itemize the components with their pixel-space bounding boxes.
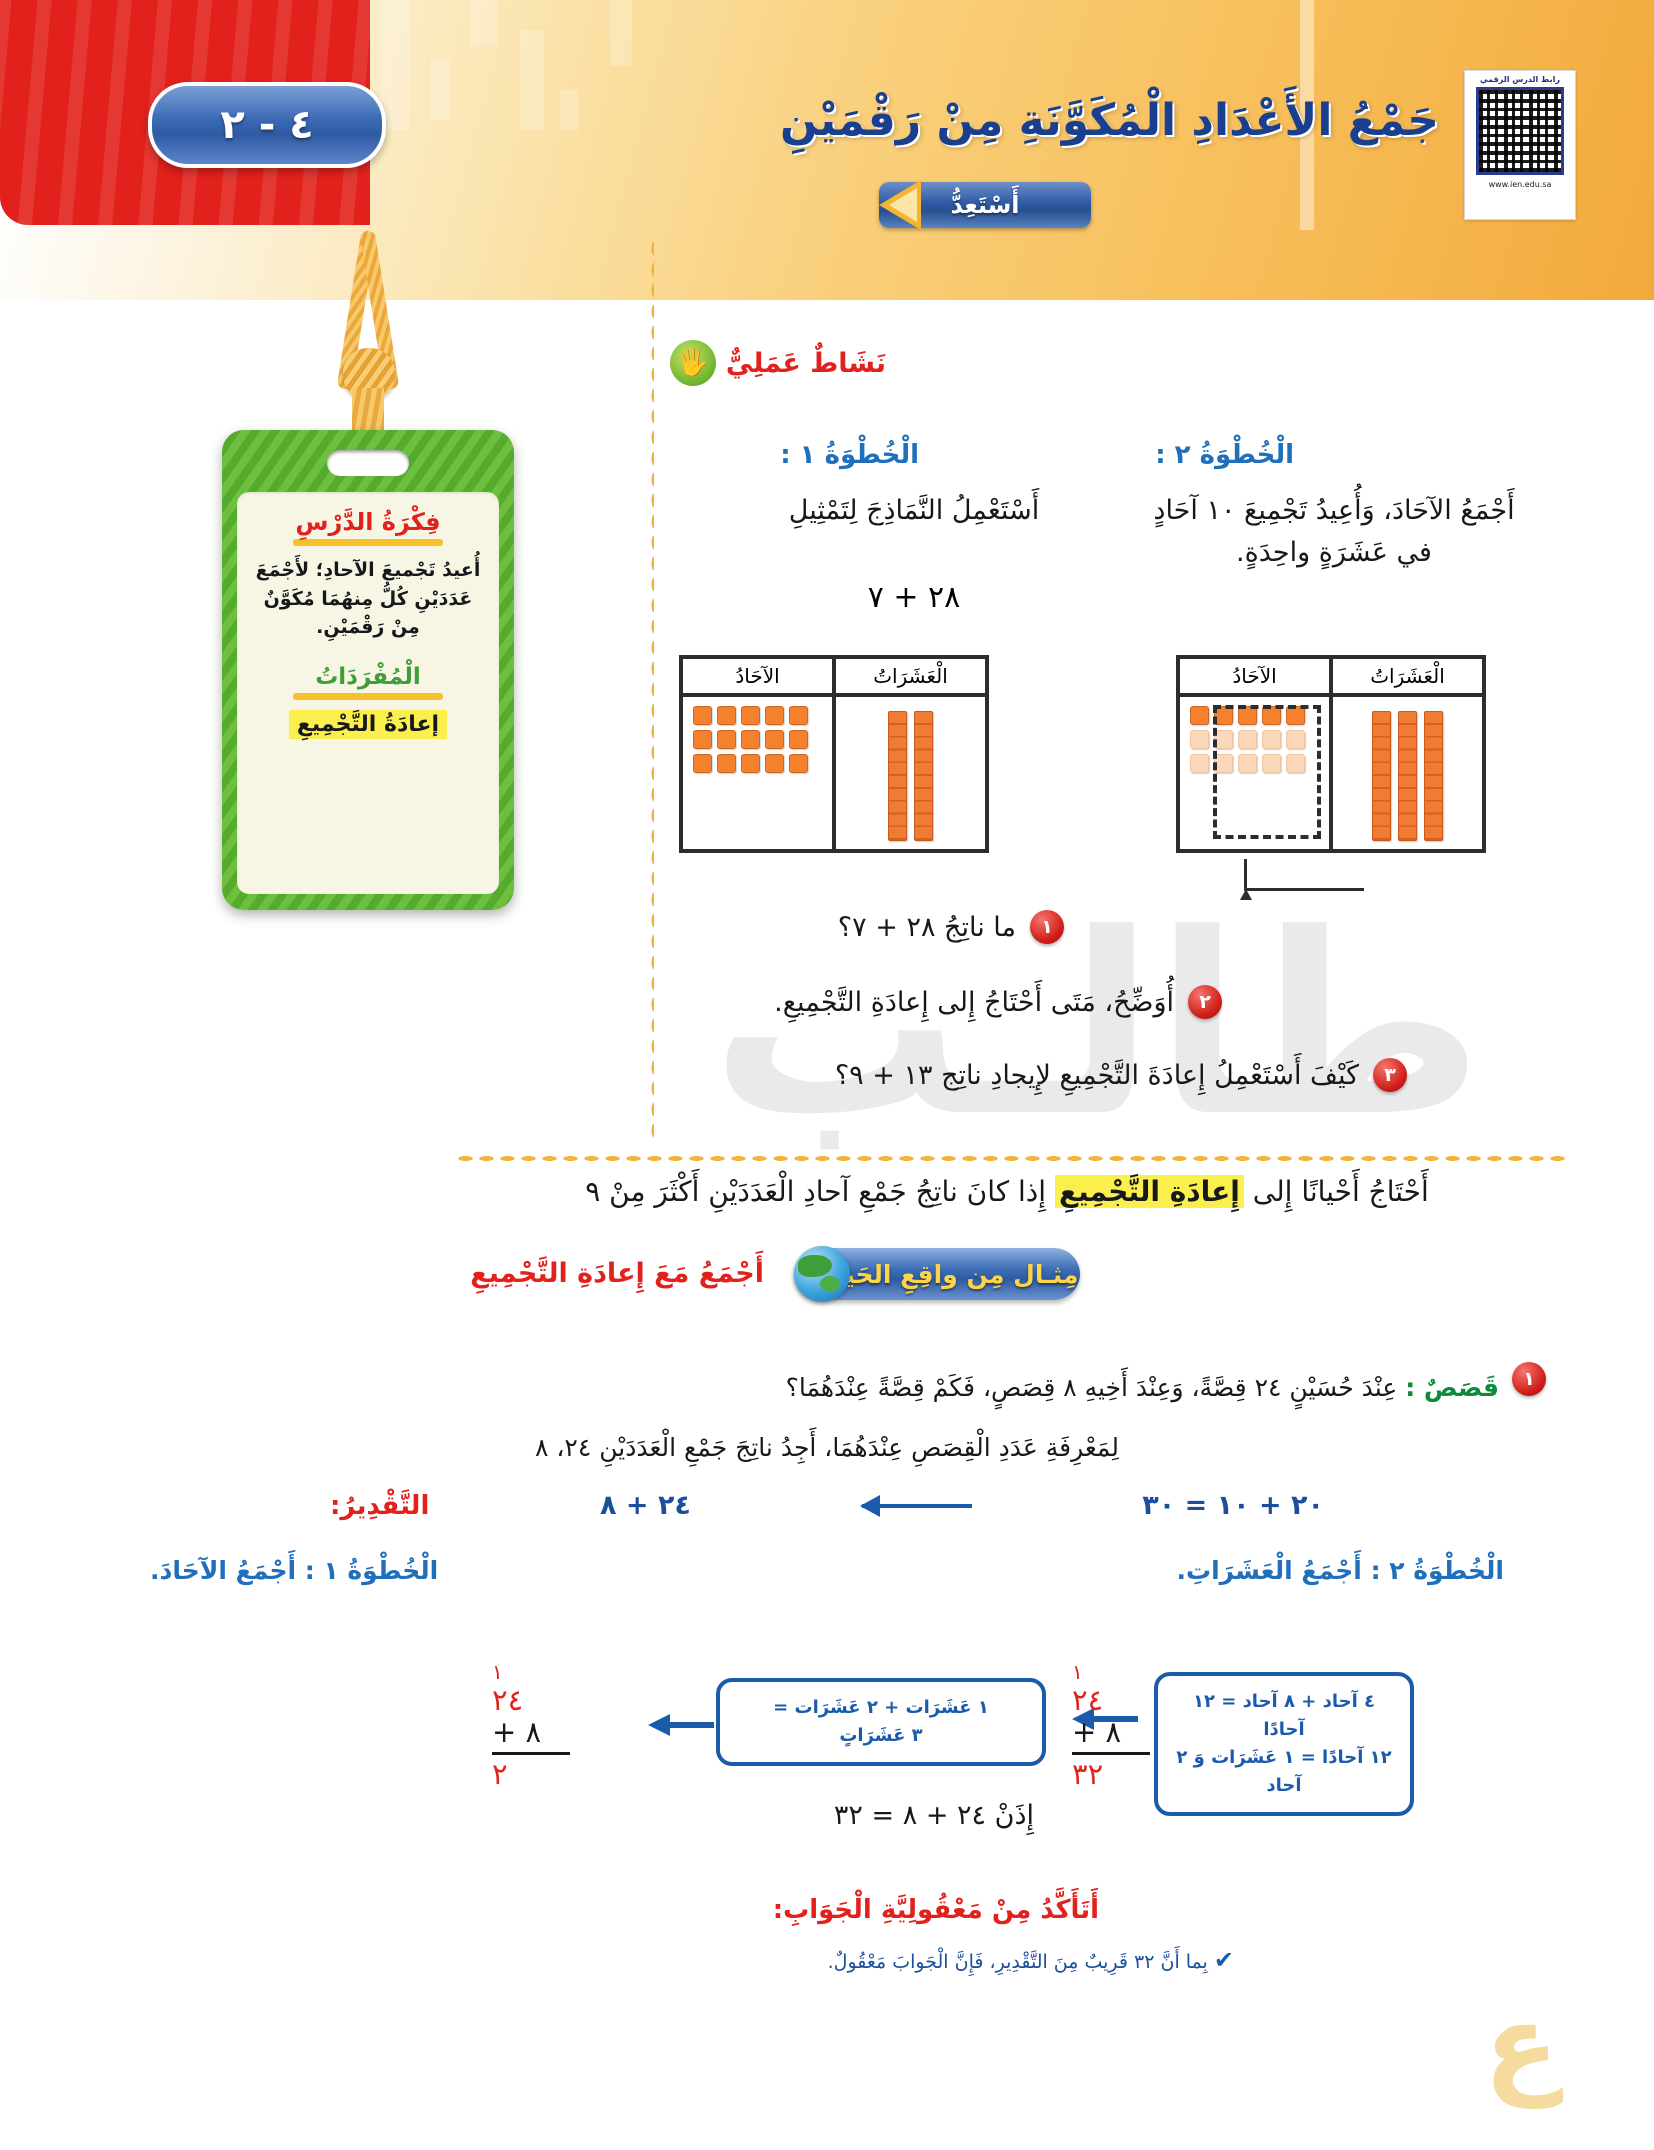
example-subtitle: أَجْمَعُ مَعَ إِعادَةِ التَّجْمِيعِ — [470, 1258, 764, 1289]
col-header-ones: الآحَادُ — [683, 659, 832, 693]
example-banner: مِثـال مِن واقِعِ الحَيـــاةِ — [794, 1248, 1124, 1300]
unit-cube-pale — [1190, 730, 1209, 749]
example-question-text: عِنْدَ حُسَيْنٍ ٢٤ قِصَّةً، وَعِنْدَ أَخ… — [786, 1373, 1398, 1402]
col-header-tens: الْعَشَرَاتُ — [832, 659, 985, 693]
question-number: ٣ — [1373, 1058, 1407, 1092]
unit-cube — [741, 730, 760, 749]
place-value-table-step2: الْعَشَرَاتُ الآحَادُ — [1176, 655, 1486, 853]
lesson-idea-card: فِكْرَةُ الدَّرْسِ أُعيدُ تَجْميعَ الآحا… — [222, 430, 514, 910]
callout-ones-line-2: ١٢ آحادًا = ١ عَشَرَات وَ ٢ آحاد — [1172, 1744, 1396, 1800]
estimate-result: ٢٠ + ١٠ = ٣٠ — [1142, 1490, 1324, 1521]
textbook-page: ٤ - ٢ رابط الدرس الرقمي www.ien.edu.sa ج… — [0, 0, 1654, 2150]
page-title: جَمْعُ الأَعْدَادِ الْمُكَوَّنَةِ مِنْ ر… — [780, 95, 1439, 146]
tens-rod — [888, 711, 907, 841]
column-sum-tens: ١ ٢٤ + ٨ ٣٢ — [1072, 1660, 1154, 1790]
watermark: طالـب — [711, 880, 1484, 1171]
example-number: ١ — [1512, 1362, 1546, 1396]
ones-units-group — [683, 697, 832, 849]
estimate-expression: ٢٤ + ٨ — [600, 1490, 691, 1521]
unit-cube — [693, 754, 712, 773]
activity-label: نَشَاطٌ عَمَلِيٌّ — [726, 348, 886, 379]
key-sentence-highlight: إِعادَةِ التَّجْمِيعِ — [1055, 1175, 1244, 1208]
qr-code-card[interactable]: رابط الدرس الرقمي www.ien.edu.sa — [1464, 70, 1576, 220]
unit-cube — [789, 730, 808, 749]
unit-cube — [717, 730, 736, 749]
callout-tens-line-1: ١ عَشَرَات + ٢ عَشَرَات = — [734, 1694, 1028, 1722]
question-text: أُوَضِّحُ، مَتَى أَحْتَاجُ إِلى إِعادَةِ… — [774, 985, 1174, 1020]
unit-cube — [789, 706, 808, 725]
unit-cube — [1190, 706, 1209, 725]
check-heading: أَتَأَكَّدُ مِنْ مَعْقُولِيَّةِ الْجَوَا… — [773, 1895, 1099, 1925]
col-header-ones: الآحَادُ — [1180, 659, 1329, 693]
idea-title-underline — [293, 539, 443, 546]
unit-cube — [765, 754, 784, 773]
regroup-dashed-outline — [1213, 705, 1321, 839]
tag-hole — [327, 450, 409, 476]
example-subline: لِمَعْرِفَةِ عَدَدِ الْقِصَصِ عِنْدَهُمَ… — [120, 1430, 1534, 1466]
lesson-number: ٤ - ٢ — [220, 102, 313, 148]
check-body-row: ✔ بِما أَنَّ ٣٢ قَرِيبٌ مِنَ التَّقْدِير… — [828, 1946, 1234, 1974]
estimate-label: التَّقْدِيرُ: — [330, 1491, 429, 1521]
question-number: ٢ — [1188, 985, 1222, 1019]
globe-icon — [794, 1246, 850, 1302]
idea-card-body: أُعيدُ تَجْميعَ الآحادِ؛ لأَجْمَعَ عَدَد… — [251, 556, 485, 642]
rope-icon — [325, 230, 411, 444]
qr-url: www.ien.edu.sa — [1489, 180, 1552, 189]
dotted-divider-vertical — [650, 238, 654, 1138]
unit-cube — [789, 754, 808, 773]
check-tick-icon: ✔ — [1214, 1946, 1234, 1974]
tens-rods-group — [1333, 697, 1482, 849]
regroup-arrow-icon — [1244, 855, 1364, 895]
example-conclusion: إِذَنْ ٢٤ + ٨ = ٣٢ — [834, 1800, 1034, 1831]
dotted-divider-horizontal — [455, 1155, 1569, 1161]
sum-total-partial: ٢ — [492, 1758, 574, 1790]
carry-digit: ١ — [1072, 1660, 1154, 1684]
prepare-tab-label: أَسْتَعِدُّ — [950, 191, 1019, 219]
key-sentence-before: أَحْتَاجُ أَحْيانًا إِلى — [1253, 1175, 1429, 1208]
question-text: كَيْفَ أَسْتَعْمِلُ إِعادَةَ التَّجْمِيع… — [835, 1058, 1359, 1093]
activity-header: نَشَاطٌ عَمَلِيٌّ 🖐 — [670, 340, 886, 386]
unit-cube — [717, 706, 736, 725]
prepare-tab: أَسْتَعِدُّ — [879, 182, 1129, 228]
column-sum-ones: ١ ٢٤ + ٨ ٢ — [492, 1660, 574, 1790]
idea-card-title: فِكْرَةُ الدَّرْسِ — [251, 508, 485, 536]
unit-cube — [765, 730, 784, 749]
key-sentence: أَحْتَاجُ أَحْيانًا إِلى إِعادَةِ التَّج… — [460, 1172, 1554, 1211]
question-item-2: ٢ أُوَضِّحُ، مَتَى أَحْتَاجُ إِلى إِعادَ… — [774, 985, 1222, 1020]
step-1-body: أَسْتَعْمِلُ النَّمَاذِجَ لِتَمْثِيلِ — [734, 490, 1094, 532]
example-steps-row: الْخُطْوَةُ ٢ : أَجْمَعُ الْعَشَرَاتِ. ا… — [150, 1556, 1504, 1585]
estimate-arrow-icon — [862, 1504, 972, 1508]
tab-triangle-inner-icon — [889, 188, 917, 222]
qr-code-icon — [1476, 87, 1564, 175]
step-2-body: أَجْمَعُ الآحَادَ، وَأُعِيدُ تَجْمِيعَ ١… — [1134, 490, 1534, 574]
tens-rod-regrouped — [1372, 711, 1391, 841]
callout-tens: ١ عَشَرَات + ٢ عَشَرَات = ٣ عَشَرَاتٍ — [716, 1678, 1046, 1766]
tens-cell-step2 — [1329, 697, 1482, 849]
question-text: ما ناتِجُ ٢٨ + ٧؟ — [838, 910, 1016, 945]
question-number: ١ — [1030, 910, 1064, 944]
place-value-table-step1: الْعَشَرَاتُ الآحَادُ — [679, 655, 989, 853]
example-step-1: الْخُطْوَةُ ١ : أَجْمَعُ الآحَادَ. — [150, 1556, 438, 1585]
lesson-number-badge: ٤ - ٢ — [148, 82, 386, 168]
tens-rods-group — [836, 697, 985, 849]
tens-rod — [1398, 711, 1417, 841]
check-body: بِما أَنَّ ٣٢ قَرِيبٌ مِنَ التَّقْدِيرِ،… — [828, 1951, 1208, 1973]
tens-cell-step1 — [832, 697, 985, 849]
col-header-tens: الْعَشَرَاتُ — [1329, 659, 1482, 693]
tag-inner-panel: فِكْرَةُ الدَّرْسِ أُعيدُ تَجْميعَ الآحا… — [237, 492, 499, 894]
vocab-title-underline — [293, 693, 443, 700]
step-1-equation: ٢٨ + ٧ — [734, 580, 1094, 615]
sum-total: ٣٢ — [1072, 1758, 1154, 1790]
qr-caption: رابط الدرس الرقمي — [1480, 75, 1560, 84]
tens-rod — [1424, 711, 1443, 841]
estimate-row: ٢٠ + ١٠ = ٣٠ ٢٤ + ٨ التَّقْدِيرُ: — [330, 1490, 1324, 1521]
callout-ones: ٤ آحاد + ٨ آحاد = ١٢ آحادًا ١٢ آحادًا = … — [1154, 1672, 1414, 1816]
unit-cube — [693, 730, 712, 749]
step-1-heading: الْخُطْوَةُ ١ : — [780, 440, 919, 470]
step-2-heading: الْخُطْوَةُ ٢ : — [1155, 440, 1294, 470]
sum-rule — [1072, 1752, 1150, 1755]
addend-top: ٢٤ — [492, 1684, 574, 1716]
vocab-title: الْمُفْرَدَاتُ — [251, 664, 485, 690]
sum-rule — [492, 1752, 570, 1755]
carry-digit: ١ — [492, 1660, 574, 1684]
tens-rod — [914, 711, 933, 841]
watermark-logo: ع — [1484, 1980, 1559, 2108]
addend-bottom: + ٨ — [492, 1716, 574, 1748]
unit-cube-pale — [1190, 754, 1209, 773]
unit-cube — [693, 706, 712, 725]
example-step-2: الْخُطْوَةُ ٢ : أَجْمَعُ الْعَشَرَاتِ. — [1176, 1556, 1504, 1585]
hands-icon: 🖐 — [670, 340, 716, 386]
unit-cube — [765, 706, 784, 725]
addend-bottom: + ٨ — [1072, 1716, 1154, 1748]
callout-ones-line-1: ٤ آحاد + ٨ آحاد = ١٢ آحادًا — [1172, 1688, 1396, 1744]
example-label: قَصَصٌ : — [1405, 1373, 1499, 1402]
question-item-3: ٣ كَيْفَ أَسْتَعْمِلُ إِعادَةَ التَّجْمِ… — [835, 1058, 1407, 1093]
ones-cell-step1 — [683, 697, 832, 849]
unit-cube — [741, 706, 760, 725]
vocab-word: إعادَةُ التَّجْمِيعِ — [289, 710, 447, 739]
ones-cell-step2 — [1180, 697, 1329, 849]
addend-top: ٢٤ — [1072, 1684, 1154, 1716]
question-item-1: ١ ما ناتِجُ ٢٨ + ٧؟ — [838, 910, 1064, 945]
key-sentence-after: إِذا كانَ ناتِجُ جَمْعِ آحادِ الْعَدَدَي… — [585, 1175, 1046, 1208]
unit-cube — [741, 754, 760, 773]
example-question-line: قَصَصٌ : عِنْدَ حُسَيْنٍ ٢٤ قِصَّةً، وَع… — [120, 1370, 1499, 1406]
unit-cube — [717, 754, 736, 773]
callout-tens-arrow-icon — [648, 1714, 714, 1736]
callout-tens-line-2: ٣ عَشَرَاتٍ — [734, 1722, 1028, 1750]
